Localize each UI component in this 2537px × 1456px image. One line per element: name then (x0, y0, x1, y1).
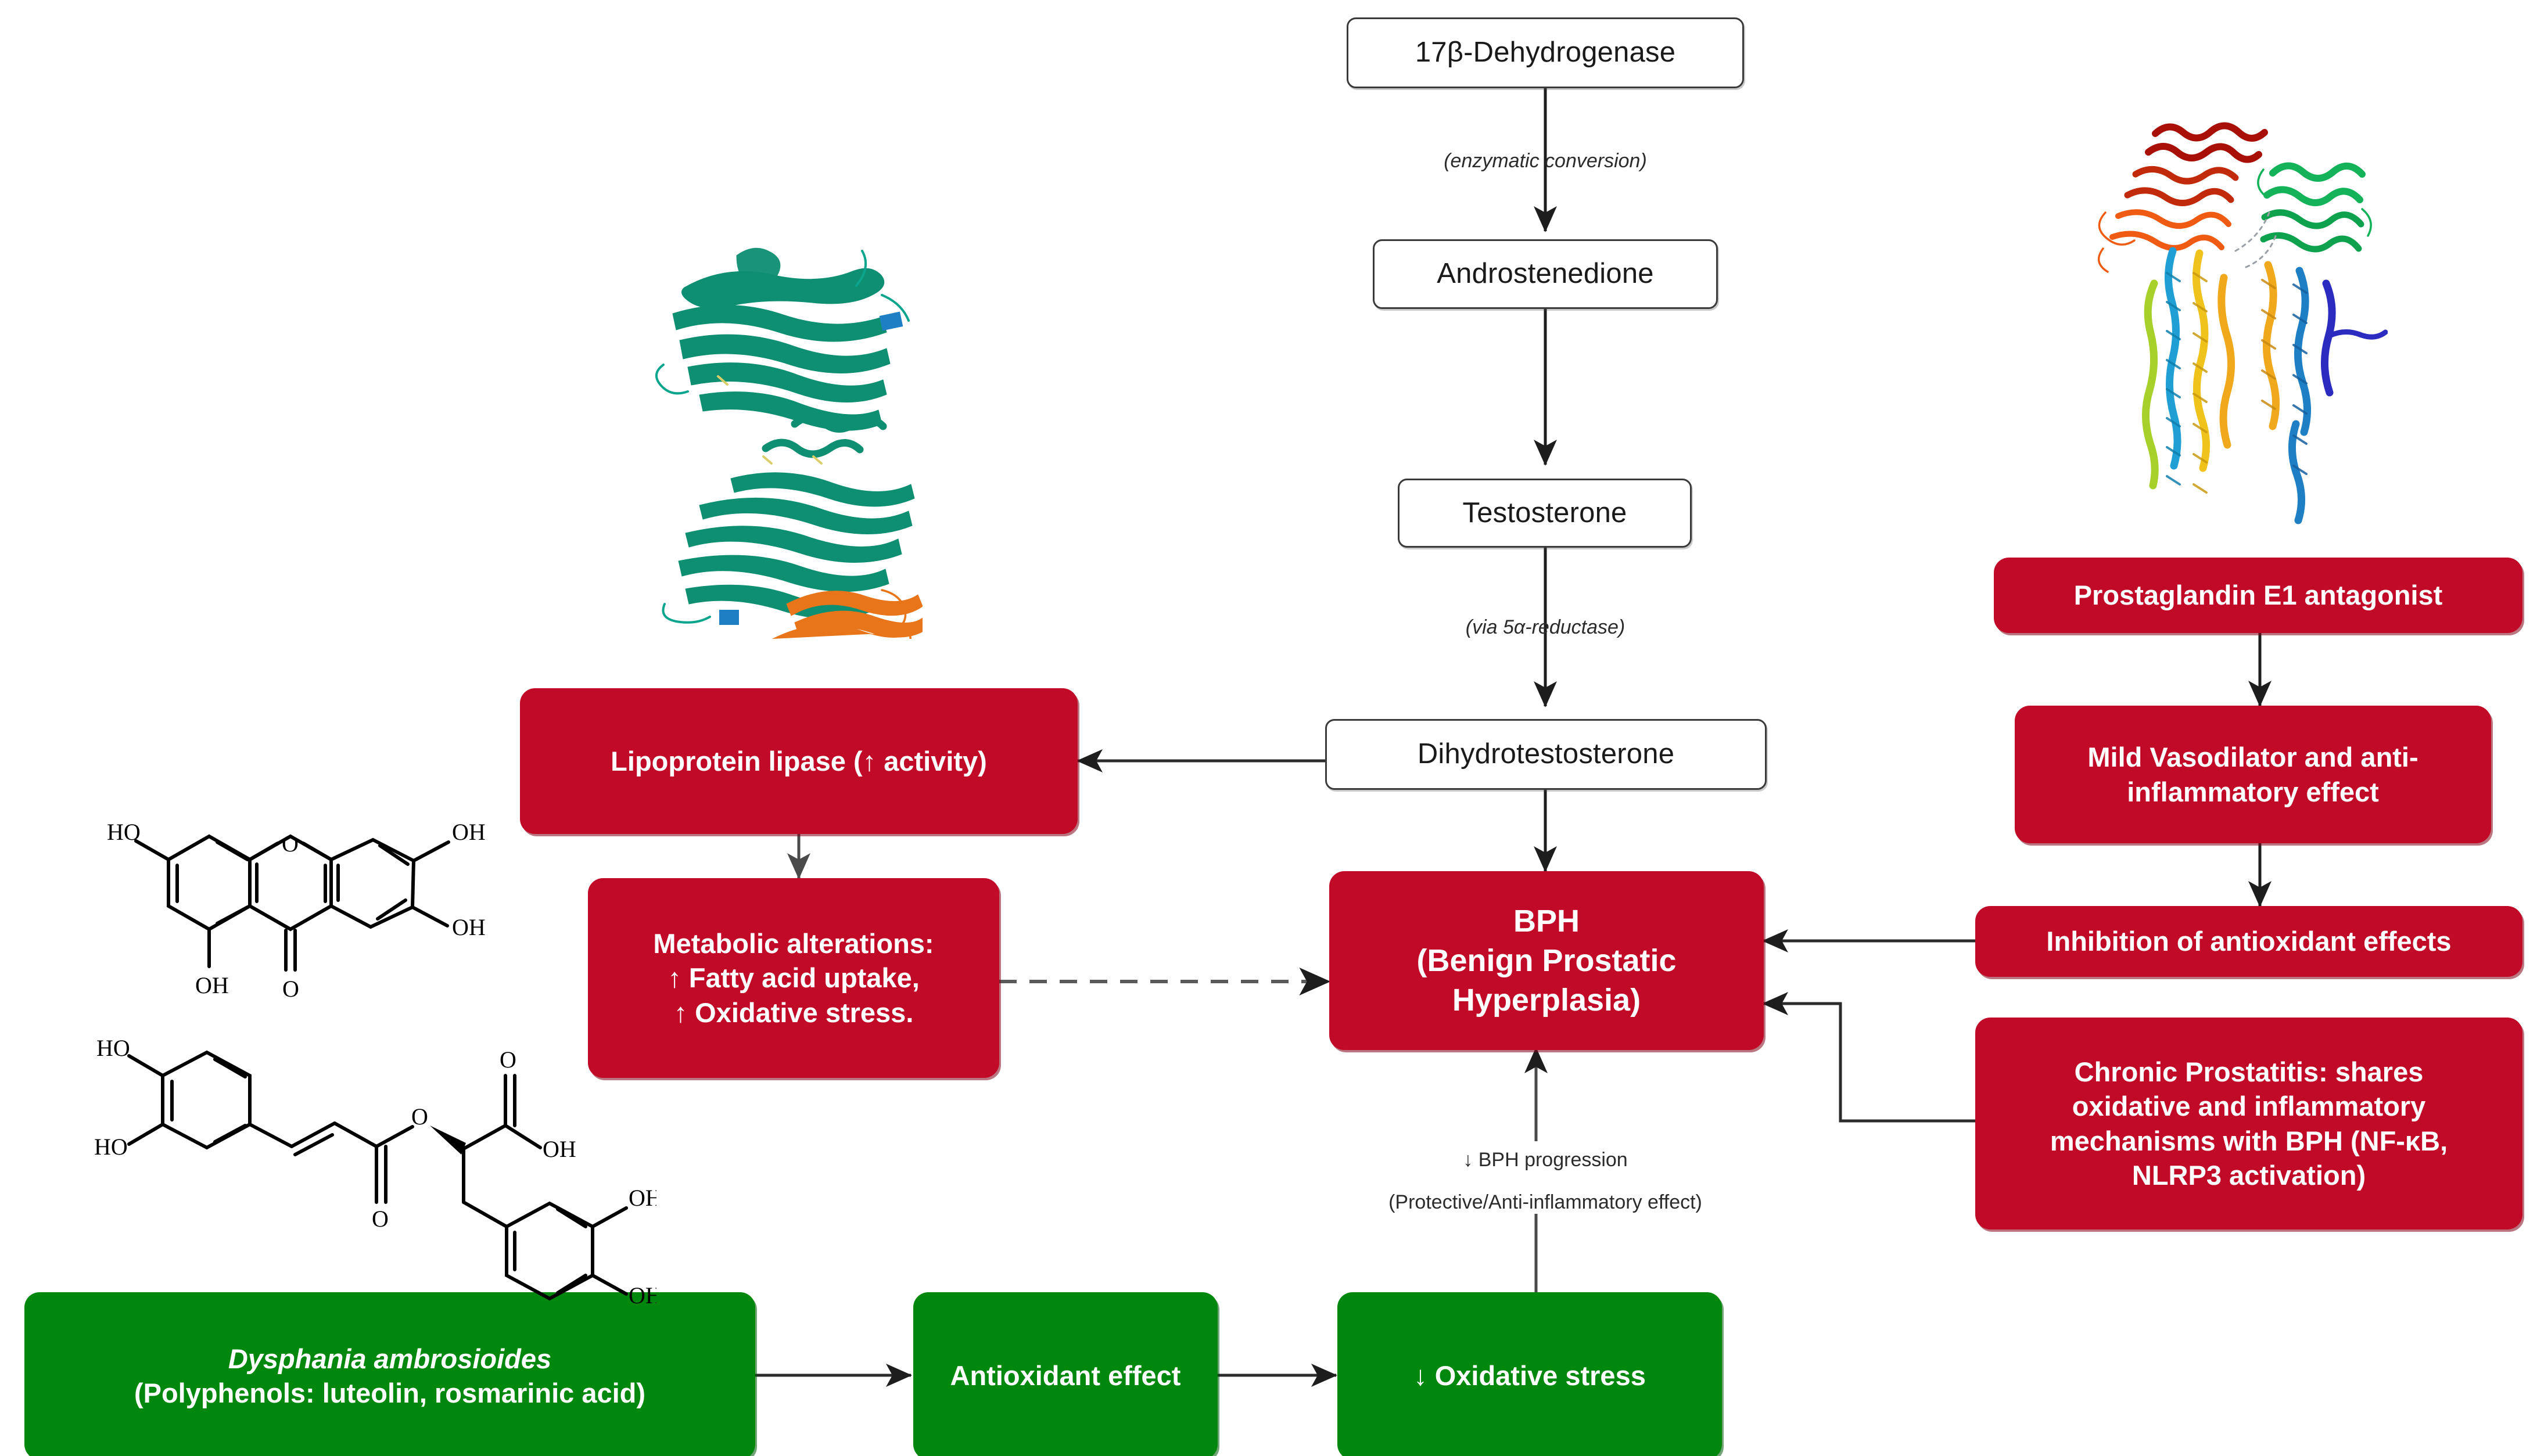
node-bph-line2: (Benign Prostatic (1416, 941, 1676, 980)
edge-label-protective-effect: (Protective/Anti-inflammatory effect) (1388, 1189, 1702, 1216)
chem-label-OH-d: OH (629, 1282, 656, 1308)
node-chronic-prostatitis-line4: NLRP3 activation) (2132, 1158, 2366, 1192)
chem-label-ketone-O: O (282, 976, 299, 1002)
chem-label-OH-3prime: OH (452, 914, 486, 940)
chem-label-acid-OH: OH (543, 1136, 576, 1162)
node-antioxidant-effect-label: Antioxidant effect (913, 1358, 1218, 1393)
edge-chronic-prostatitis-to-bph (1763, 1004, 1975, 1121)
node-lipoprotein-lipase[interactable]: Lipoprotein lipase (↑ activity) (520, 688, 1078, 834)
chem-label-ester-O: O (411, 1103, 428, 1130)
chem-label-carbonyl-O: O (372, 1206, 389, 1232)
lipoprotein-lipase-ribbon-structure (649, 232, 923, 639)
node-testosterone[interactable]: Testosterone (1398, 479, 1692, 548)
node-chronic-prostatitis-line1: Chronic Prostatitis: shares (2075, 1055, 2424, 1089)
chem-label-OH-5: OH (195, 972, 229, 998)
node-vasodilator[interactable]: Mild Vasodilator and anti- inflammatory … (2015, 706, 2491, 843)
edge-label-via-5a-reductase-text: (via 5α-reductase) (1466, 616, 1625, 638)
edge-label-enzymatic-conversion-text: (enzymatic conversion) (1444, 150, 1647, 172)
node-pge1-antagonist[interactable]: Prostaglandin E1 antagonist (1994, 558, 2522, 633)
node-androstenedione[interactable]: Androstenedione (1373, 239, 1718, 309)
node-dehydrogenase-label: 17β-Dehydrogenase (1348, 35, 1742, 71)
node-bph[interactable]: BPH (Benign Prostatic Hyperplasia) (1329, 871, 1764, 1050)
chem-label-OH-c: OH (629, 1185, 656, 1211)
node-chronic-prostatitis-line2: oxidative and inflammatory (2072, 1089, 2426, 1123)
node-dysphania[interactable]: Dysphania ambrosioides (Polyphenols: lut… (24, 1292, 755, 1456)
edge-label-enzymatic-conversion: (enzymatic conversion) (1444, 148, 1647, 175)
chem-label-OH-4prime: OH (452, 819, 486, 845)
chem-label-ring-O: O (282, 831, 299, 857)
node-lipoprotein-lipase-label: Lipoprotein lipase (↑ activity) (520, 744, 1078, 778)
edge-label-protective-effect-text: (Protective/Anti-inflammatory effect) (1388, 1191, 1702, 1213)
edge-label-bph-progression-text: ↓ BPH progression (1463, 1149, 1627, 1171)
node-oxidative-stress-down-label: ↓ Oxidative stress (1337, 1358, 1722, 1393)
chem-label-HO-a: HO (96, 1035, 130, 1061)
node-oxidative-stress-down[interactable]: ↓ Oxidative stress (1337, 1292, 1722, 1456)
node-metabolic-alterations-line3: ↑ Oxidative stress. (674, 995, 914, 1030)
diagram-canvas: 17β-Dehydrogenase Androstenedione Testos… (0, 0, 2537, 1456)
node-bph-line1: BPH (1513, 901, 1580, 941)
node-dihydrotestosterone-label: Dihydrotestosterone (1327, 736, 1765, 772)
chem-label-HO-b: HO (94, 1134, 128, 1160)
rosmarinic-acid-skeletal-structure: HO HO O O O OH OH OH (76, 1011, 656, 1313)
node-vasodilator-line1: Mild Vasodilator and anti- (2087, 740, 2418, 774)
receptor-dimer-rainbow-ribbon-structure (2086, 99, 2388, 552)
node-metabolic-alterations-line1: Metabolic alterations: (653, 926, 934, 961)
node-dysphania-line1: Dysphania ambrosioides (228, 1342, 551, 1376)
chem-label-HO-7: HO (107, 819, 141, 845)
node-bph-line3: Hyperplasia) (1452, 980, 1641, 1020)
node-inhibition-antioxidant[interactable]: Inhibition of antioxidant effects (1975, 906, 2522, 977)
node-vasodilator-line2: inflammatory effect (2127, 775, 2379, 809)
node-inhibition-antioxidant-label: Inhibition of antioxidant effects (1975, 924, 2522, 958)
node-chronic-prostatitis-line3: mechanisms with BPH (NF-κB, (2050, 1124, 2448, 1158)
node-metabolic-alterations-line2: ↑ Fatty acid uptake, (668, 961, 920, 995)
node-androstenedione-label: Androstenedione (1375, 256, 1716, 292)
node-dysphania-line2: (Polyphenols: luteolin, rosmarinic acid) (134, 1376, 645, 1410)
node-chronic-prostatitis-bold: Chronic Prostatitis: (2075, 1056, 2328, 1087)
node-dihydrotestosterone[interactable]: Dihydrotestosterone (1325, 719, 1767, 790)
node-chronic-prostatitis-line1-rest: shares (2328, 1056, 2424, 1087)
node-pge1-antagonist-label: Prostaglandin E1 antagonist (1994, 578, 2522, 612)
node-chronic-prostatitis[interactable]: Chronic Prostatitis: shares oxidative an… (1975, 1018, 2522, 1229)
node-antioxidant-effect[interactable]: Antioxidant effect (913, 1292, 1218, 1456)
edge-label-via-5a-reductase: (via 5α-reductase) (1466, 614, 1625, 641)
luteolin-skeletal-structure: HO OH OH OH O O (76, 726, 517, 1011)
chem-label-acid-O: O (500, 1047, 516, 1073)
node-testosterone-label: Testosterone (1400, 495, 1690, 531)
edge-label-bph-progression: ↓ BPH progression (1463, 1147, 1627, 1174)
node-dehydrogenase[interactable]: 17β-Dehydrogenase (1347, 17, 1744, 88)
